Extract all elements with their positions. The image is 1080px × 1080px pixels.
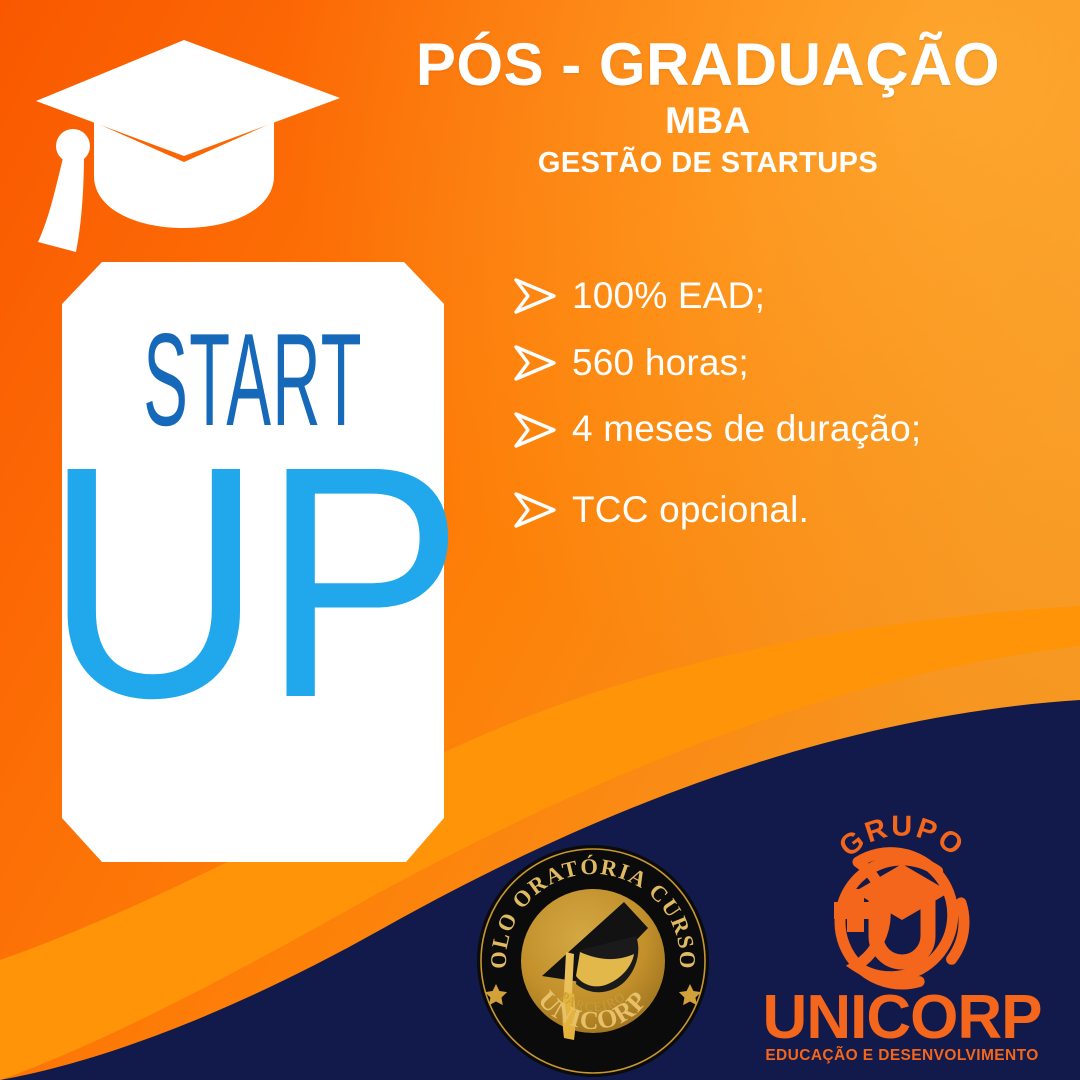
program-type: MBA (370, 100, 1046, 142)
course-name: GESTÃO DE STARTUPS (370, 147, 1046, 180)
list-item-label: TCC opcional. (572, 490, 809, 531)
arrow-bullet-icon (512, 344, 558, 382)
list-item: 4 meses de duração; (512, 409, 1057, 450)
list-item-label: 100% EAD; (572, 276, 765, 317)
page-title: PÓS - GRADUAÇÃO (370, 34, 1046, 96)
list-item-label: 560 horas; (572, 343, 749, 384)
unicorp-brand-text: UNICORP (763, 983, 1042, 1052)
unicorp-tagline-text: EDUCAÇÃO E DESENVOLVIMENTO (765, 1046, 1038, 1064)
poster-canvas: START UP PÓS - GRADUAÇÃO MBA GESTÃO DE S… (0, 0, 1080, 1080)
list-item-label: 4 meses de duração; (572, 409, 921, 450)
list-item: 560 horas; (512, 343, 1057, 384)
startup-tag-graphic: START UP (62, 262, 444, 862)
list-item: 100% EAD; (512, 276, 1057, 317)
features-list: 100% EAD; 560 horas; 4 meses de duração;… (512, 276, 1057, 531)
graduation-cap-icon (26, 26, 346, 258)
arrow-bullet-icon (512, 277, 558, 315)
list-item: TCC opcional. (512, 490, 1057, 531)
arrow-bullet-icon (512, 411, 558, 449)
unicorp-logo: GRUPO UNICORP EDUCAÇÃO E DESENVOLVIMENTO (752, 806, 1052, 1068)
tag-up-text: UP (44, 440, 462, 724)
polo-oratoria-seal-logo: POLO ORATÓRIA CURSOS PARCEIRO UNICORP (476, 844, 710, 1078)
arrow-bullet-icon (512, 491, 558, 529)
header-block: PÓS - GRADUAÇÃO MBA GESTÃO DE STARTUPS (370, 34, 1046, 180)
